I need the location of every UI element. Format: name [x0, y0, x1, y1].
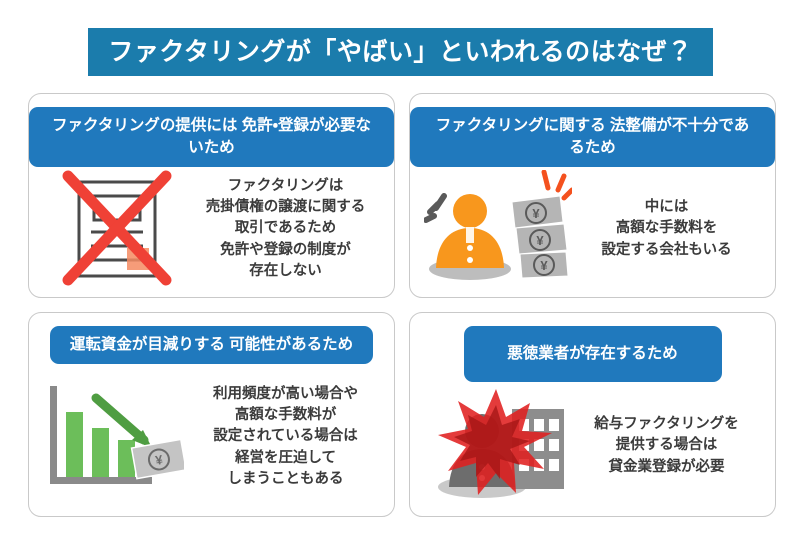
card-grid: ファクタリングの提供には 免許・登録が必要ないため ファクタリングは 売掛債権の…	[28, 93, 776, 517]
card-capital: 運転資金が目減りする 可能性があるため ¥	[28, 312, 395, 517]
svg-text:¥: ¥	[536, 233, 544, 248]
card-law-header: ファクタリングに関する 法整備が不十分であるため	[410, 107, 775, 167]
angry-person-with-money-icon: ¥ ¥ ¥	[424, 169, 572, 289]
card-capital-text: 利用頻度が高い場合や 高額な手数料が 設定されている場合は 経営を圧迫して しま…	[188, 384, 384, 491]
card-license-header: ファクタリングの提供には 免許・登録が必要ないため	[29, 107, 394, 167]
fraud-company-burst-icon	[424, 386, 572, 506]
page-title-banner: ファクタリングが「やばい」といわれるのはなぜ？	[88, 28, 713, 76]
infographic-page: ファクタリングが「やばい」といわれるのはなぜ？ ファクタリングの提供には 免許・…	[0, 0, 800, 533]
card-fraud-body: 給与ファクタリングを 提供する場合は 貸金業登録が必要	[410, 382, 775, 516]
card-law: ファクタリングに関する 法整備が不十分であるため	[409, 93, 776, 298]
card-license-body: ファクタリングは 売掛債権の譲渡に関する 取引であるため 免許や登録の制度が 存…	[29, 167, 394, 297]
card-license-text: ファクタリングは 売掛債権の譲渡に関する 取引であるため 免許や登録の制度が 存…	[191, 176, 381, 283]
svg-text:¥: ¥	[540, 258, 548, 273]
card-license: ファクタリングの提供には 免許・登録が必要ないため ファクタリングは 売掛債権の…	[28, 93, 395, 298]
svg-text:¥: ¥	[532, 206, 540, 221]
card-fraud-text: 給与ファクタリングを 提供する場合は 貸金業登録が必要	[572, 414, 762, 478]
card-capital-header: 運転資金が目減りする 可能性があるため	[50, 326, 373, 364]
card-fraud: 悪徳業者が存在するため	[409, 312, 776, 517]
card-capital-body: ¥ 利用頻度が高い場合や 高額な手数料が 設定されている場合は 経営を圧迫して …	[29, 364, 394, 516]
card-law-body: ¥ ¥ ¥ 中には 高額な手数料を 設定する会社もいる	[410, 167, 775, 297]
declining-bar-chart-icon: ¥	[40, 377, 188, 497]
page-title: ファクタリングが「やばい」といわれるのはなぜ？	[108, 40, 692, 65]
card-fraud-header: 悪徳業者が存在するため	[464, 326, 722, 382]
card-law-text: 中には 高額な手数料を 設定する会社もいる	[572, 197, 762, 261]
document-crossed-out-icon	[43, 169, 191, 289]
